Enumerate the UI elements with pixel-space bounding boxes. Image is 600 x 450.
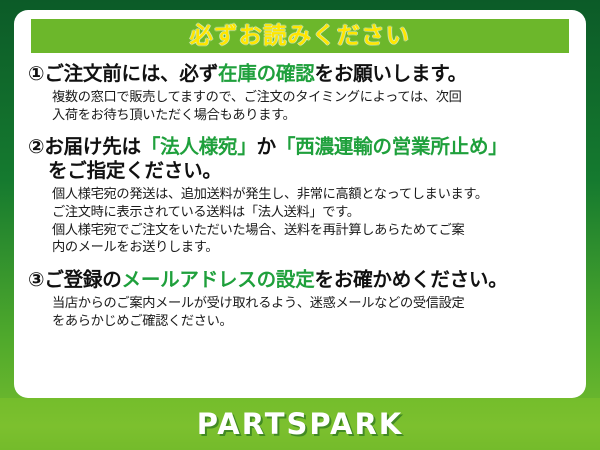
notice-item-number: ③	[28, 268, 44, 291]
headline-text: か	[257, 135, 276, 158]
description-line: 内のメールをお送りします。	[52, 239, 572, 257]
headline-text: ご登録の	[44, 268, 121, 291]
headline-text: ご注文前には、必ず	[44, 62, 218, 85]
headline-text: をお確かめください。	[315, 268, 508, 291]
description-line: 複数の窓口で販売してますので、ご注文のタイミングによっては、次回	[52, 89, 572, 107]
notice-item: ③ご登録のメールアドレスの設定をお確かめください。当店からのご案内メールが受け取…	[28, 268, 572, 330]
notice-title: 必ずお読みください	[190, 25, 411, 48]
description-line: 個人様宅宛でご注文をいただいた場合、送料を再計算しあらためてご案	[52, 222, 572, 240]
headline-continuation: をご指定ください。	[28, 159, 572, 183]
notice-item-number: ①	[28, 62, 44, 85]
description-line: ご注文時に表示されている送料は「法人送料」です。	[52, 204, 572, 222]
notice-item-headline: ③ご登録のメールアドレスの設定をお確かめください。	[28, 268, 572, 292]
notice-card: 必ずお読みください ①ご注文前には、必ず在庫の確認をお願いします。複数の窓口で販…	[0, 0, 600, 450]
notice-item-description: 当店からのご案内メールが受け取れるよう、迷惑メールなどの受信設定をあらかじめご確…	[28, 295, 572, 330]
headline-highlight: 「西濃運輸の営業所止め」	[276, 135, 508, 158]
notice-panel: 必ずお読みください ①ご注文前には、必ず在庫の確認をお願いします。複数の窓口で販…	[14, 10, 586, 398]
headline-text: お届け先は	[44, 135, 141, 158]
notice-item-headline: ②お届け先は「法人様宛」か「西濃運輸の営業所止め」をご指定ください。	[28, 135, 572, 183]
notice-item: ②お届け先は「法人様宛」か「西濃運輸の営業所止め」をご指定ください。個人様宅宛の…	[28, 135, 572, 257]
headline-highlight: 「法人様宛」	[141, 135, 257, 158]
brand-name: PARTSPARK	[197, 410, 404, 439]
description-line: をあらかじめご確認ください。	[52, 313, 572, 331]
headline-highlight: 在庫の確認	[218, 62, 315, 85]
description-line: 入荷をお待ち頂いただく場合もあります。	[52, 107, 572, 125]
notice-item: ①ご注文前には、必ず在庫の確認をお願いします。複数の窓口で販売してますので、ご注…	[28, 62, 572, 124]
headline-highlight: メールアドレスの設定	[122, 268, 315, 291]
brand-footer: PARTSPARK	[0, 398, 600, 450]
notice-header-banner: 必ずお読みください	[31, 19, 569, 53]
headline-text: をお願いします。	[315, 62, 467, 85]
notice-item-headline: ①ご注文前には、必ず在庫の確認をお願いします。	[28, 62, 572, 86]
notice-item-number: ②	[28, 135, 44, 158]
notice-item-description: 複数の窓口で販売してますので、ご注文のタイミングによっては、次回入荷をお待ち頂い…	[28, 89, 572, 124]
notice-items-list: ①ご注文前には、必ず在庫の確認をお願いします。複数の窓口で販売してますので、ご注…	[25, 62, 575, 330]
description-line: 当店からのご案内メールが受け取れるよう、迷惑メールなどの受信設定	[52, 295, 572, 313]
notice-item-description: 個人様宅宛の発送は、追加送料が発生し、非常に高額となってしまいます。ご注文時に表…	[28, 186, 572, 257]
description-line: 個人様宅宛の発送は、追加送料が発生し、非常に高額となってしまいます。	[52, 186, 572, 204]
